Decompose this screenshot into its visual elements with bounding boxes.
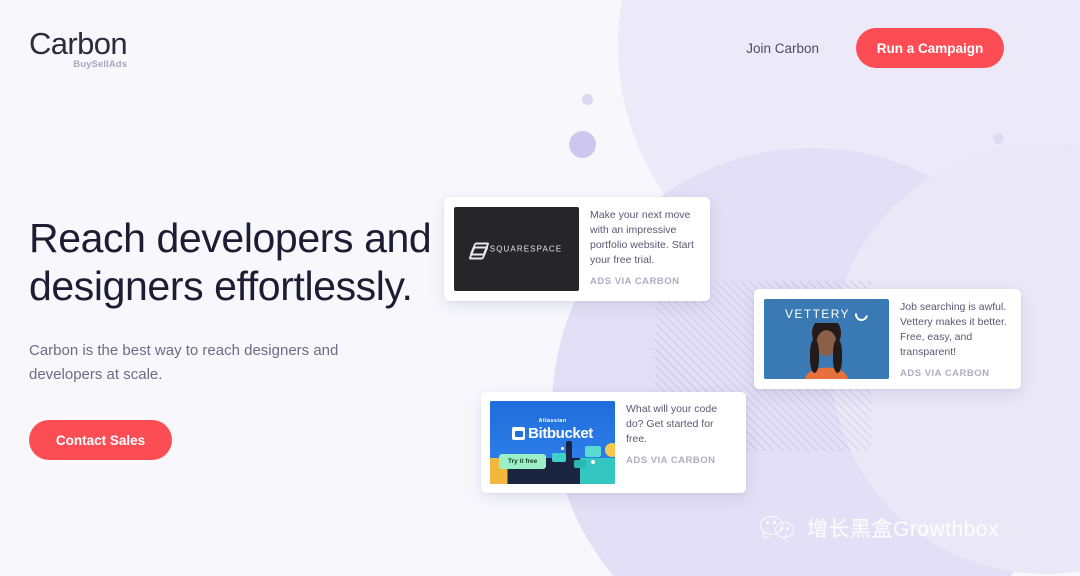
ad-body-squarespace: Make your next move with an impressive p…: [579, 207, 700, 291]
site-header: Carbon BuySellAds Join Carbon Run a Camp…: [0, 0, 1080, 92]
bitbucket-block-a: [552, 453, 566, 462]
wechat-dot-3: [780, 527, 783, 530]
bitbucket-spark-1: [561, 447, 564, 450]
ad-copy-bitbucket: What will your code do? Get started for …: [626, 402, 737, 447]
page-root: Carbon BuySellAds Join Carbon Run a Camp…: [0, 0, 1080, 576]
ad-body-vettery: Job searching is awful. Vettery makes it…: [889, 299, 1011, 379]
hero-subtitle: Carbon is the best way to reach designer…: [29, 339, 404, 388]
brand-logo-wordmark: Carbon: [29, 28, 127, 59]
bitbucket-spark-2: [591, 460, 595, 464]
ad-card-vettery[interactable]: VETTERY Job searching is awful. Vettery …: [754, 289, 1021, 389]
brand-logo-subtitle: BuySellAds: [29, 60, 127, 70]
bitbucket-block-c: [574, 460, 586, 468]
ad-attribution-squarespace[interactable]: ADS VIA CARBON: [590, 276, 700, 287]
ad-copy-squarespace: Make your next move with an impressive p…: [590, 208, 700, 268]
bitbucket-logo-icon: [512, 427, 525, 440]
bitbucket-sun-shape: [605, 443, 615, 457]
ad-media-bitbucket: Atlassian Bitbucket Try it free: [490, 401, 615, 484]
ad-attribution-vettery[interactable]: ADS VIA CARBON: [900, 368, 1011, 379]
brand-logo[interactable]: Carbon BuySellAds: [29, 28, 127, 70]
squarespace-logo-icon: [471, 243, 484, 256]
wechat-dot-2: [773, 521, 776, 524]
contact-sales-button[interactable]: Contact Sales: [29, 420, 172, 460]
decor-dot-small-right: [993, 133, 1004, 144]
atlassian-wordmark: Atlassian: [490, 418, 615, 424]
bitbucket-try-it-free-button[interactable]: Try it free: [499, 454, 546, 469]
ad-media-vettery: VETTERY: [764, 299, 889, 379]
run-a-campaign-button[interactable]: Run a Campaign: [856, 28, 1004, 68]
wechat-dot-1: [766, 521, 769, 524]
nav-link-join-carbon[interactable]: Join Carbon: [746, 41, 819, 56]
bitbucket-block-b: [585, 446, 601, 457]
ad-body-bitbucket: What will your code do? Get started for …: [615, 401, 737, 484]
watermark-text: 增长黑盒Growthbox: [807, 513, 999, 543]
wechat-bubble-small: [775, 522, 794, 538]
squarespace-lockup: SQUARESPACE: [454, 243, 579, 256]
ad-media-squarespace: SQUARESPACE: [454, 207, 579, 291]
ad-card-squarespace[interactable]: SQUARESPACE Make your next move with an …: [444, 197, 710, 301]
wechat-dot-4: [786, 527, 789, 530]
bitbucket-figure: [566, 441, 572, 459]
vettery-photo-hair-right: [833, 339, 842, 373]
decor-dot-medium: [569, 131, 596, 158]
wechat-icon: [760, 515, 798, 541]
hero-section: Reach developers and designers effortles…: [29, 214, 449, 460]
bitbucket-lockup: Bitbucket: [490, 425, 615, 442]
bitbucket-wordmark: Bitbucket: [528, 425, 593, 442]
hero-title: Reach developers and designers effortles…: [29, 214, 449, 311]
vettery-swoosh-icon: [852, 305, 870, 323]
ad-attribution-bitbucket[interactable]: ADS VIA CARBON: [626, 455, 737, 466]
squarespace-wordmark: SQUARESPACE: [490, 245, 562, 254]
vettery-wordmark: VETTERY: [785, 307, 850, 321]
ad-card-bitbucket[interactable]: Atlassian Bitbucket Try it free What wil…: [481, 392, 746, 493]
vettery-lockup: VETTERY: [764, 307, 889, 321]
vettery-photo: [764, 323, 889, 379]
watermark: 增长黑盒Growthbox: [760, 513, 999, 543]
vettery-photo-hair-left: [810, 339, 819, 373]
decor-dot-small-upper: [582, 94, 593, 105]
ad-copy-vettery: Job searching is awful. Vettery makes it…: [900, 300, 1011, 360]
header-nav: Join Carbon Run a Campaign: [746, 28, 1004, 68]
